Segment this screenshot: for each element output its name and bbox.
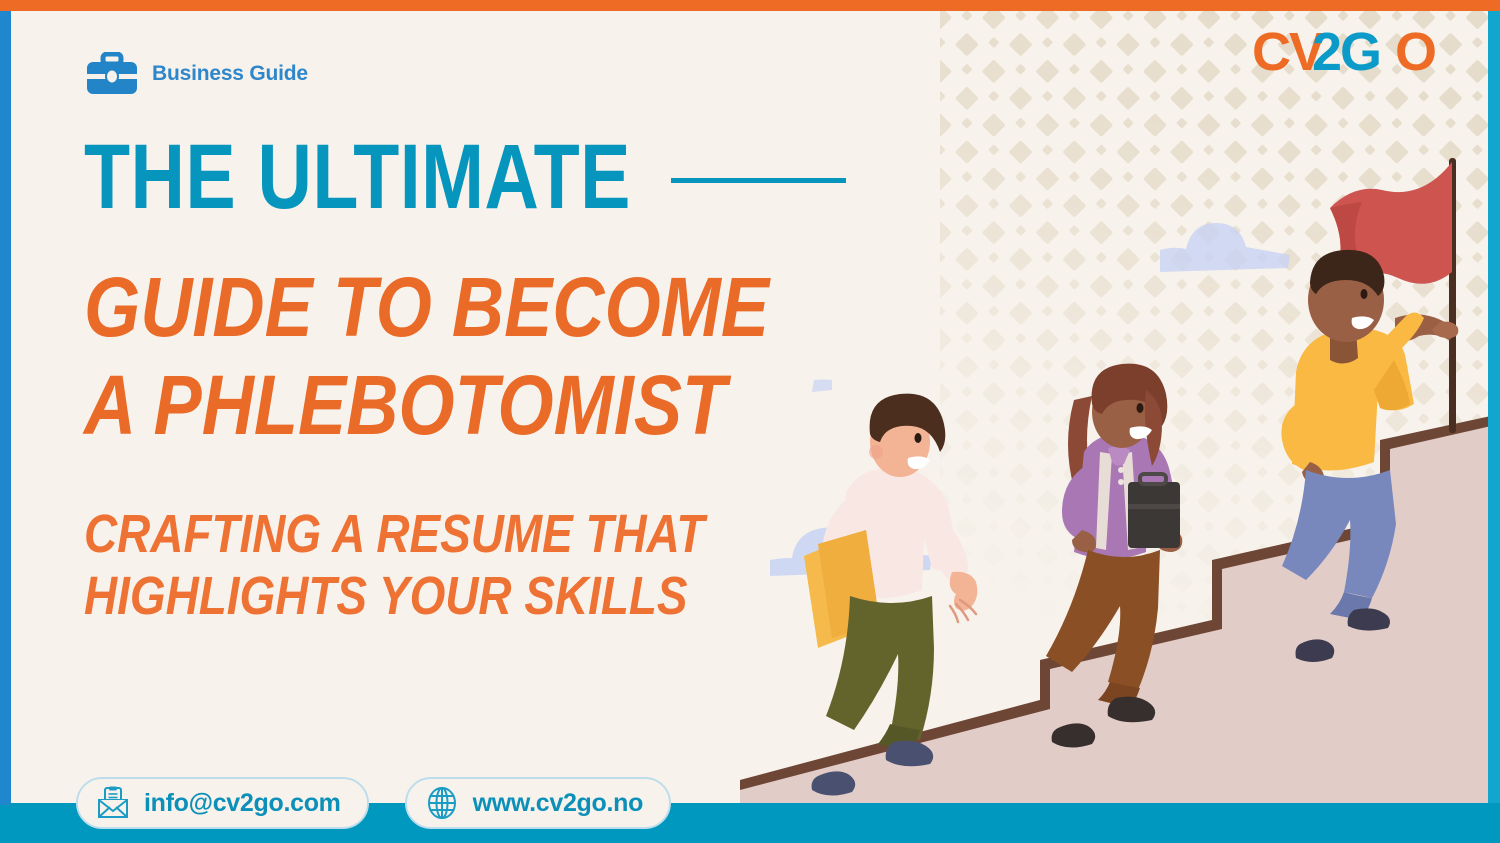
footer-contact-row: info@cv2go.com www.cv2go.no [76, 777, 671, 829]
website-pill[interactable]: www.cv2go.no [405, 777, 672, 829]
logo-text-o: O [1395, 24, 1435, 82]
top-accent-bar [0, 0, 1500, 11]
email-text: info@cv2go.com [144, 789, 341, 818]
logo-text-2g: 2G [1312, 24, 1380, 82]
globe-icon [425, 786, 459, 820]
website-text: www.cv2go.no [473, 789, 644, 818]
subtitle: CRAFTING A RESUME THAT HIGHLIGHTS YOUR S… [84, 503, 781, 627]
cv2go-logo[interactable]: CV 2G O [1252, 24, 1468, 82]
right-accent-bar [1488, 11, 1500, 803]
badge-label: Business Guide [152, 62, 308, 86]
business-guide-badge: Business Guide [86, 52, 308, 96]
poster-canvas: Business Guide CV 2G O THE ULTIMATE GUID… [0, 0, 1500, 843]
envelope-icon [96, 786, 130, 820]
email-pill[interactable]: info@cv2go.com [76, 777, 369, 829]
kicker-row: THE ULTIMATE [84, 132, 904, 222]
headline-block: THE ULTIMATE GUIDE TO BECOME A PHLEBOTOM… [84, 132, 904, 627]
left-accent-bar [0, 11, 11, 805]
kicker-text: THE ULTIMATE [84, 132, 631, 222]
briefcase-icon [86, 52, 138, 96]
kicker-rule [671, 178, 846, 183]
main-title: GUIDE TO BECOME A PHLEBOTOMIST [84, 258, 789, 455]
